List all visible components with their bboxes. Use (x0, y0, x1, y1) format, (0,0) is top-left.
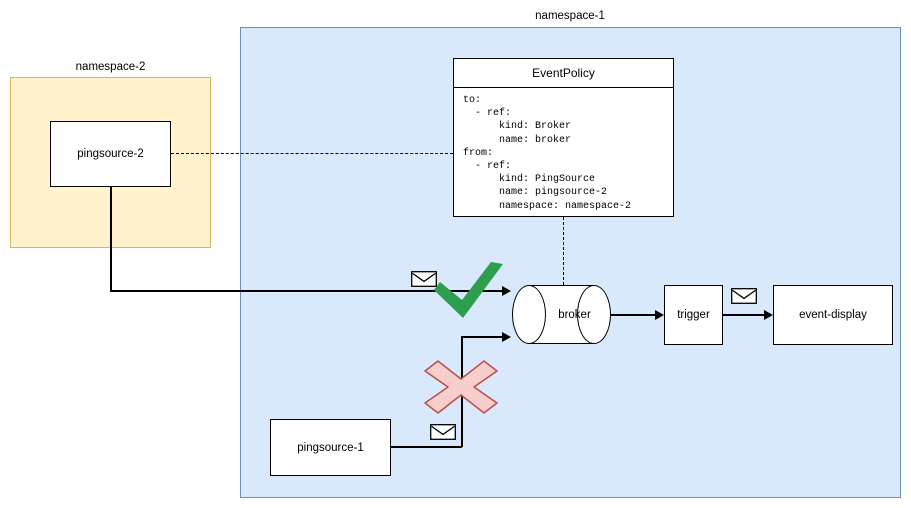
edge-pingsource2-vertical (110, 186, 112, 291)
node-pingsource-1-label: pingsource-1 (297, 442, 363, 454)
node-trigger-label: trigger (677, 309, 710, 321)
edge-trigger-eventdisplay-arrowhead (764, 310, 773, 320)
node-broker[interactable]: broker (512, 285, 611, 344)
node-trigger[interactable]: trigger (664, 285, 723, 345)
policy-link-pingsource2 (171, 153, 453, 154)
node-event-display[interactable]: event-display (773, 285, 893, 345)
node-pingsource-2-label: pingsource-2 (77, 148, 143, 160)
event-policy-title: EventPolicy (453, 58, 674, 88)
green-check-icon (434, 262, 504, 322)
diagram-canvas: namespace-1 namespace-2 pingsource-2 pin… (0, 0, 911, 508)
envelope-icon (731, 288, 757, 304)
edge-broker-trigger-arrowhead (655, 310, 664, 320)
namespace-2-label: namespace-2 (10, 61, 211, 73)
envelope-icon (430, 424, 456, 440)
edge-pingsource1-horizontal (391, 446, 462, 448)
red-cross-icon (424, 360, 498, 414)
policy-link-broker (563, 217, 564, 285)
event-policy-card[interactable]: EventPolicy to: - ref: kind: Broker name… (453, 58, 674, 217)
node-pingsource-1[interactable]: pingsource-1 (270, 419, 391, 476)
node-event-display-label: event-display (799, 309, 867, 321)
edge-broker-trigger (609, 314, 657, 316)
node-pingsource-2[interactable]: pingsource-2 (50, 121, 171, 187)
namespace-1-label: namespace-1 (440, 10, 700, 22)
edge-pingsource1-to-broker (461, 336, 506, 338)
event-policy-yaml: to: - ref: kind: Broker name: broker fro… (453, 88, 674, 217)
node-broker-label: broker (512, 285, 611, 344)
edge-pingsource1-arrowhead (502, 332, 511, 342)
edge-trigger-eventdisplay (723, 314, 766, 316)
